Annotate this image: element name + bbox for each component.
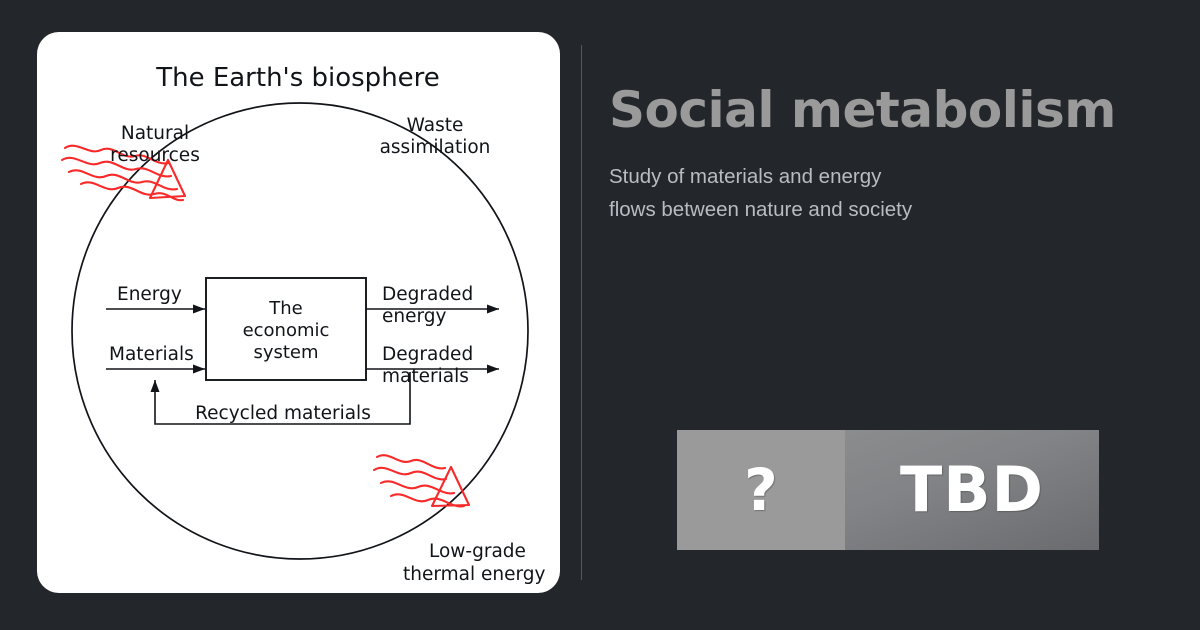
tbd-badge: ? TBD bbox=[677, 430, 1099, 550]
label-degraded-energy-line1: Degraded bbox=[382, 284, 473, 305]
label-energy: Energy bbox=[117, 284, 182, 305]
question-mark-icon: ? bbox=[744, 461, 778, 519]
box-label-line3: system bbox=[253, 342, 318, 363]
badge-icon-panel: ? bbox=[677, 430, 845, 550]
info-panel: Social metabolism Study of materials and… bbox=[609, 0, 1200, 630]
box-label-line1: The bbox=[268, 298, 302, 319]
label-waste-assimilation-line1: Waste bbox=[407, 115, 464, 136]
label-degraded-materials-line1: Degraded bbox=[382, 344, 473, 365]
panel-divider bbox=[581, 45, 582, 580]
figure-title: The Earth's biosphere bbox=[155, 63, 440, 93]
biosphere-figure-card: The Earth's biosphere Natural resources … bbox=[37, 32, 560, 593]
label-low-grade-line1: Low-grade bbox=[429, 541, 526, 562]
label-natural-resources-line1: Natural bbox=[121, 123, 189, 144]
biosphere-diagram: The Earth's biosphere Natural resources … bbox=[37, 32, 560, 593]
subtitle-line-2: flows between nature and society bbox=[609, 193, 1039, 226]
badge-text-panel: TBD bbox=[845, 430, 1099, 550]
box-label-line2: economic bbox=[243, 320, 330, 341]
label-natural-resources-line2: resources bbox=[110, 145, 200, 166]
materials-inflow-arrow bbox=[106, 365, 205, 374]
subtitle-line-1: Study of materials and energy bbox=[609, 160, 1039, 193]
label-materials: Materials bbox=[109, 344, 194, 365]
badge-label: TBD bbox=[900, 459, 1044, 521]
label-waste-assimilation-line2: assimilation bbox=[380, 137, 491, 158]
page-title: Social metabolism bbox=[609, 81, 1200, 140]
energy-inflow-arrow bbox=[106, 305, 205, 314]
label-low-grade-line2: thermal energy bbox=[403, 564, 546, 585]
label-recycled-materials: Recycled materials bbox=[195, 403, 371, 424]
page-subtitle: Study of materials and energy flows betw… bbox=[609, 160, 1039, 226]
